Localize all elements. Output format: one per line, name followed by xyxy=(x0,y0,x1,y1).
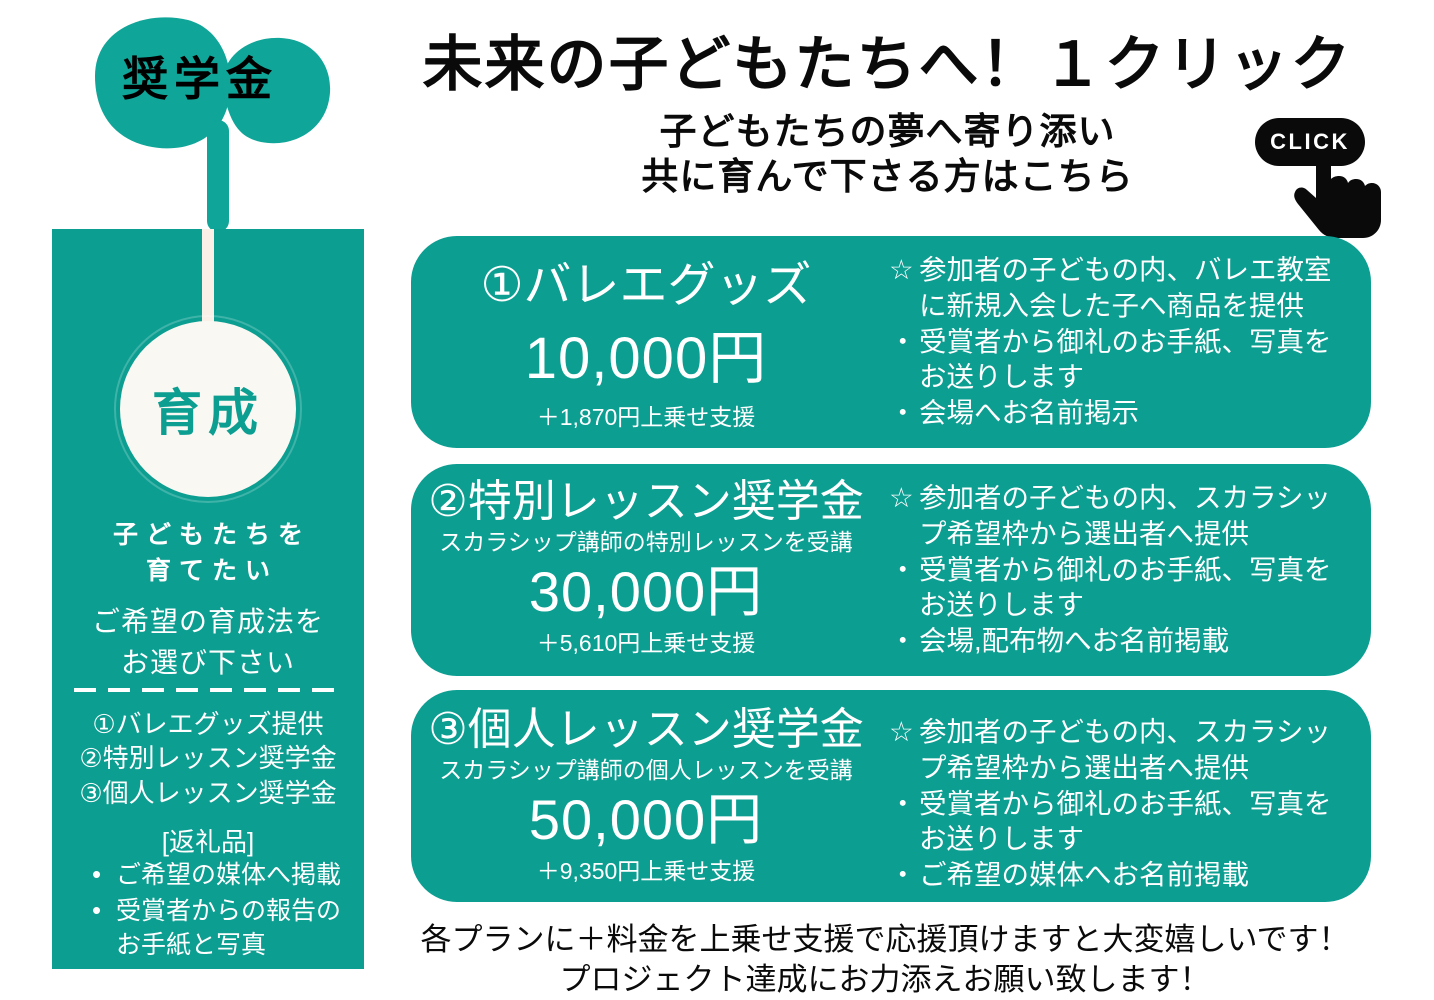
plan-title: ①バレエグッズ xyxy=(480,260,811,313)
detail-marker: ・ xyxy=(889,552,917,588)
sidebar-heading-line1: 子どもたちを xyxy=(52,517,364,553)
sidebar-plan-item[interactable]: ①バレエグッズ提供 xyxy=(52,707,364,741)
detail-text: 参加者の子どもの内、スカラシップ希望枠から選出者へ提供 xyxy=(919,482,1331,549)
header-subtitle-line2: 共に育んで下さる方はこちら xyxy=(385,154,1390,199)
detail-text: 受賞者から御礼のお手紙、写真をお送りします xyxy=(919,326,1332,393)
plan-summary: ②特別レッスン奨学金 スカラシップ講師の特別レッスンを受講 30,000円 ＋5… xyxy=(411,464,881,676)
pointing-hand-icon xyxy=(1293,146,1403,238)
plan-detail-item: ・ 受賞者から御礼のお手紙、写真をお送りします xyxy=(889,552,1347,624)
plan-extra-support: ＋9,350円上乗せ支援 xyxy=(537,858,756,886)
plan-details: ☆ 参加者の子どもの内、バレエ教室に新規入会した子へ商品を提供 ・ 受賞者から御… xyxy=(881,236,1371,448)
sprout-icon xyxy=(85,8,345,233)
detail-marker: ☆ xyxy=(889,714,914,750)
detail-marker: ・ xyxy=(889,324,917,360)
list-item: 受賞者からの報告のお手紙と写真 xyxy=(86,895,348,963)
plan-details: ☆ 参加者の子どもの内、スカラシップ希望枠から選出者へ提供 ・ 受賞者から御礼の… xyxy=(881,464,1371,676)
detail-marker: ・ xyxy=(889,395,917,431)
header-subtitle-line1: 子どもたちの夢へ寄り添い xyxy=(385,109,1390,154)
plan-detail-item: ・ ご希望の媒体へお名前掲載 xyxy=(889,857,1347,893)
plan-detail-item: ・ 会場へお名前掲示 xyxy=(889,395,1347,431)
plan-details: ☆ 参加者の子どもの内、スカラシップ希望枠から選出者へ提供 ・ 受賞者から御礼の… xyxy=(881,690,1371,902)
plan-subtitle: スカラシップ講師の個人レッスンを受講 xyxy=(439,756,853,785)
detail-text: 会場へお名前掲示 xyxy=(919,397,1139,428)
detail-marker: ・ xyxy=(889,623,917,659)
sidebar-subheading: ご希望の育成法を お選び下さい xyxy=(52,602,364,683)
plan-extra-support: ＋1,870円上乗せ支援 xyxy=(537,404,756,432)
sidebar-heading-line2: 育てたい xyxy=(52,553,364,589)
nurture-circle: 育成 xyxy=(120,321,296,497)
plan-card[interactable]: ②特別レッスン奨学金 スカラシップ講師の特別レッスンを受講 30,000円 ＋5… xyxy=(411,464,1371,676)
sidebar-plan-list: ①バレエグッズ提供 ②特別レッスン奨学金 ③個人レッスン奨学金 xyxy=(52,707,364,810)
detail-marker: ・ xyxy=(889,786,917,822)
detail-text: ご希望の媒体へお名前掲載 xyxy=(919,859,1249,890)
detail-text: 参加者の子どもの内、バレエ教室に新規入会した子へ商品を提供 xyxy=(919,254,1332,321)
plan-detail-item: ・ 受賞者から御礼のお手紙、写真をお送りします xyxy=(889,324,1347,396)
footer-note: 各プランに＋料金を上乗せ支援で応援頂けますと大変嬉しいです！ プロジェクト達成に… xyxy=(380,920,1390,999)
plan-title: ③個人レッスン奨学金 xyxy=(428,706,863,754)
footer-line2: プロジェクト達成にお力添えお願い致します！ xyxy=(380,960,1390,1000)
sidebar-heading: 子どもたちを 育てたい xyxy=(52,517,364,590)
sidebar-gift-title: [返礼品] xyxy=(52,822,364,859)
detail-text: 参加者の子どもの内、スカラシップ希望枠から選出者へ提供 xyxy=(919,716,1331,783)
sprout-badge: 奨学金 xyxy=(85,8,345,233)
header: 未来の子どもたちへ！１クリック 子どもたちの夢へ寄り添い 共に育んで下さる方はこ… xyxy=(385,30,1390,199)
sidebar-plan-item[interactable]: ③個人レッスン奨学金 xyxy=(52,776,364,810)
click-call-to-action[interactable]: CLICK xyxy=(1255,118,1425,236)
plan-extra-support: ＋5,610円上乗せ支援 xyxy=(537,630,756,658)
footer-line1: 各プランに＋料金を上乗せ支援で応援頂けますと大変嬉しいです！ xyxy=(380,920,1390,960)
plan-summary: ①バレエグッズ 10,000円 ＋1,870円上乗せ支援 xyxy=(411,236,881,448)
list-item: ご希望の媒体へ掲載 xyxy=(86,859,348,893)
plan-detail-item: ・ 受賞者から御礼のお手紙、写真をお送りします xyxy=(889,786,1347,858)
plan-amount: 30,000円 xyxy=(529,561,763,624)
plan-subtitle: スカラシップ講師の特別レッスンを受講 xyxy=(439,528,853,557)
sidebar-subheading-line1: ご希望の育成法を xyxy=(52,602,364,643)
detail-marker: ☆ xyxy=(889,252,914,288)
detail-text: 会場,配布物へお名前掲載 xyxy=(919,625,1229,656)
plan-detail-item: ☆ 参加者の子どもの内、スカラシップ希望枠から選出者へ提供 xyxy=(889,714,1347,786)
detail-text: 受賞者から御礼のお手紙、写真をお送りします xyxy=(919,788,1332,855)
plan-title: ②特別レッスン奨学金 xyxy=(428,478,863,526)
detail-text: 受賞者から御礼のお手紙、写真をお送りします xyxy=(919,554,1332,621)
sprout-badge-label: 奨学金 xyxy=(85,56,315,102)
sidebar-divider xyxy=(74,688,342,692)
page-title: 未来の子どもたちへ！１クリック xyxy=(385,30,1390,101)
detail-marker: ☆ xyxy=(889,480,914,516)
plan-summary: ③個人レッスン奨学金 スカラシップ講師の個人レッスンを受講 50,000円 ＋9… xyxy=(411,690,881,902)
plan-detail-item: ☆ 参加者の子どもの内、バレエ教室に新規入会した子へ商品を提供 xyxy=(889,252,1347,324)
plan-detail-item: ・ 会場,配布物へお名前掲載 xyxy=(889,623,1347,659)
plan-amount: 50,000円 xyxy=(529,789,763,852)
nurture-circle-label: 育成 xyxy=(152,373,264,445)
plan-card[interactable]: ①バレエグッズ 10,000円 ＋1,870円上乗せ支援 ☆ 参加者の子どもの内… xyxy=(411,236,1371,448)
detail-marker: ・ xyxy=(889,857,917,893)
sidebar-plan-item[interactable]: ②特別レッスン奨学金 xyxy=(52,741,364,775)
sprout-stem xyxy=(202,229,214,325)
sidebar-panel: 育成 子どもたちを 育てたい ご希望の育成法を お選び下さい ①バレエグッズ提供… xyxy=(52,229,364,969)
plan-amount: 10,000円 xyxy=(525,327,767,392)
plan-detail-item: ☆ 参加者の子どもの内、スカラシップ希望枠から選出者へ提供 xyxy=(889,480,1347,552)
plan-card[interactable]: ③個人レッスン奨学金 スカラシップ講師の個人レッスンを受講 50,000円 ＋9… xyxy=(411,690,1371,902)
sidebar-subheading-line2: お選び下さい xyxy=(52,643,364,684)
sidebar-gift-bullets: ご希望の媒体へ掲載 受賞者からの報告のお手紙と写真 xyxy=(86,859,348,964)
